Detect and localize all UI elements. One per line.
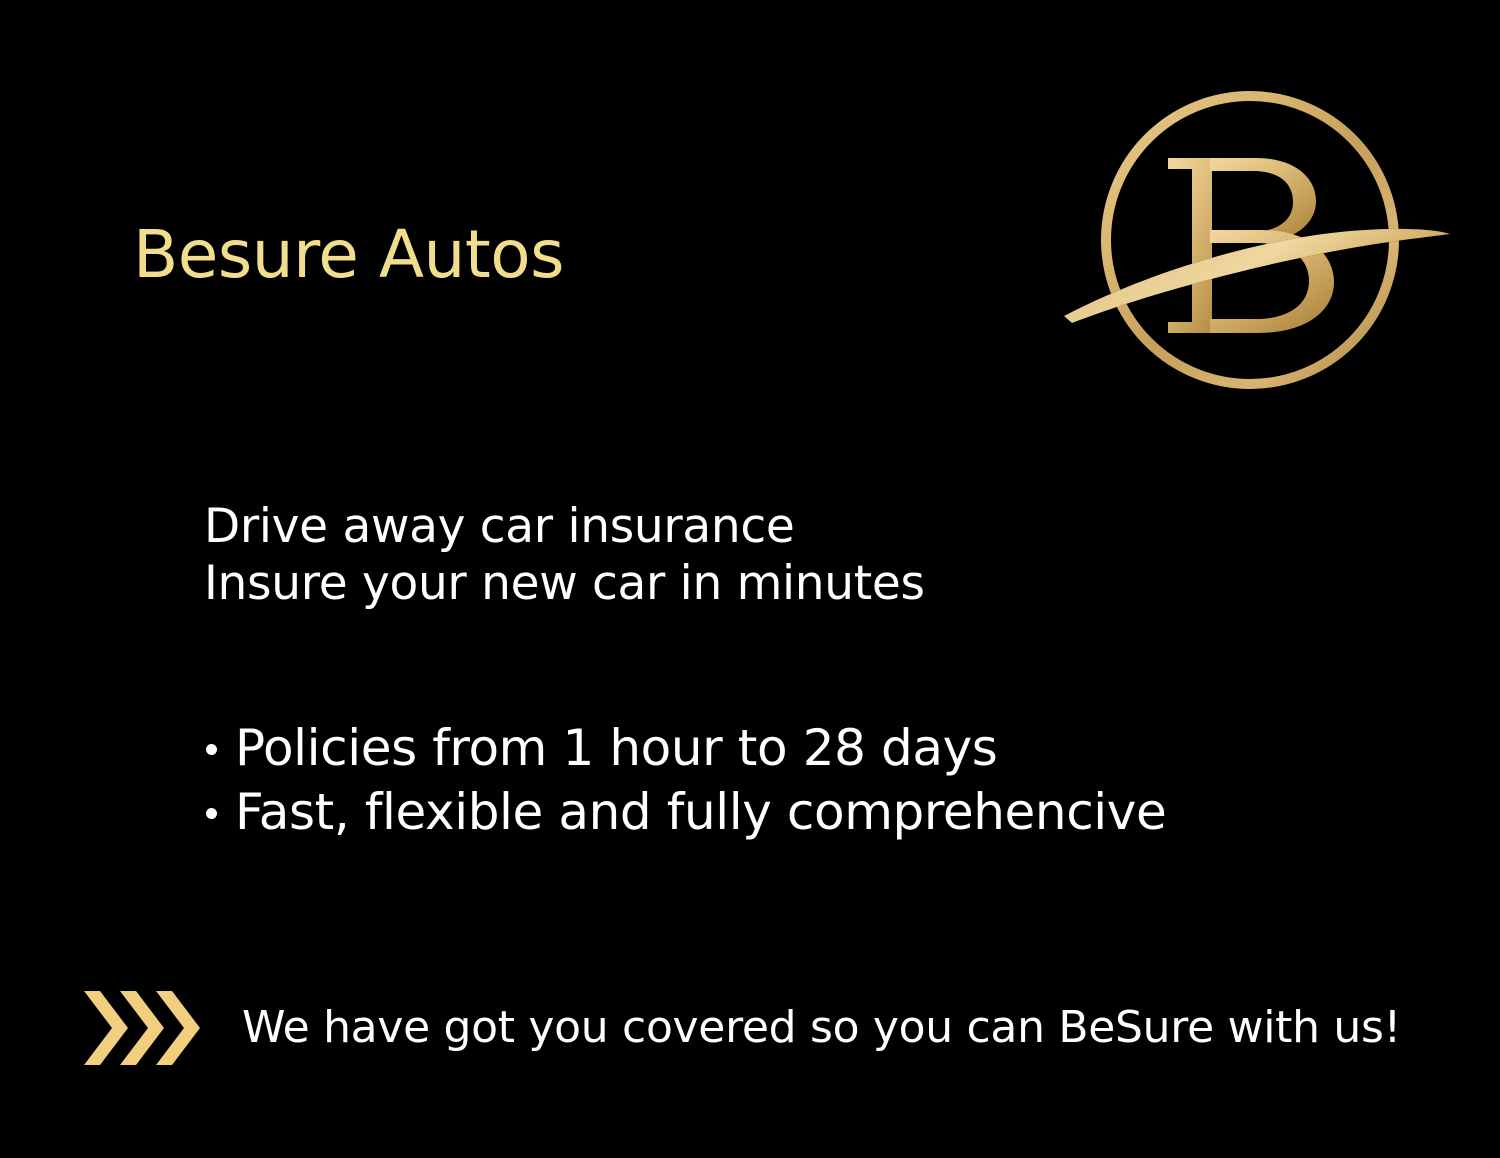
list-item: Fast, flexible and fully comprehencive: [204, 780, 1354, 844]
slide-canvas: Besure Autos: [0, 0, 1500, 1158]
tagline-text: We have got you covered so you can BeSur…: [242, 1006, 1401, 1050]
headline-line-1: Drive away car insurance: [204, 498, 1304, 555]
bullet-dot-icon: [206, 808, 217, 819]
besure-b-monogram-logo: [1050, 70, 1460, 410]
headline-block: Drive away car insurance Insure your new…: [204, 498, 1304, 613]
triple-chevron-right-icon: [80, 985, 208, 1071]
list-item-label: Fast, flexible and fully comprehencive: [235, 783, 1166, 841]
page-title: Besure Autos: [133, 222, 564, 288]
list-item: Policies from 1 hour to 28 days: [204, 716, 1354, 780]
headline-line-2: Insure your new car in minutes: [204, 555, 1304, 612]
list-item-label: Policies from 1 hour to 28 days: [235, 719, 997, 777]
benefits-list: Policies from 1 hour to 28 days Fast, fl…: [204, 716, 1354, 844]
bullet-dot-icon: [206, 744, 217, 755]
tagline-row: We have got you covered so you can BeSur…: [80, 985, 1401, 1071]
